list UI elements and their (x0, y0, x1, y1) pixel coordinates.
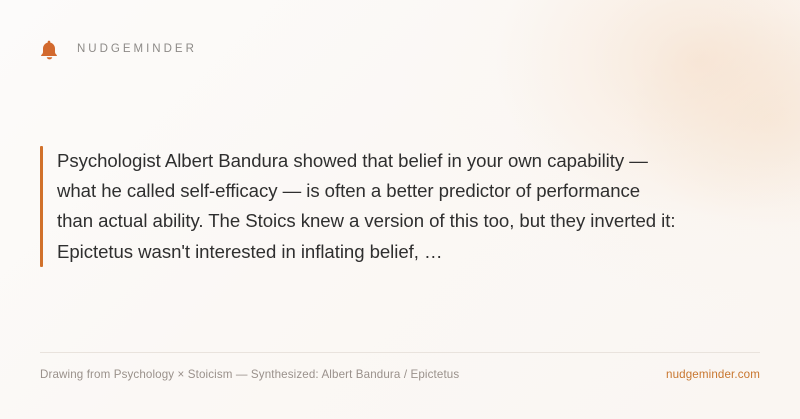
nudge-card: NUDGEMINDER Psychologist Albert Bandura … (0, 0, 800, 419)
quote-line: what he called self-efficacy — is often … (57, 176, 762, 206)
quote-block: Psychologist Albert Bandura showed that … (40, 146, 762, 267)
brand-wordmark: NUDGEMINDER (77, 44, 197, 56)
quote-accent-bar (40, 146, 43, 267)
brand-header: NUDGEMINDER (40, 36, 197, 64)
footer-divider (40, 352, 760, 353)
footer-site-link[interactable]: nudgeminder.com (666, 368, 760, 381)
footer-attribution: Drawing from Psychology × Stoicism — Syn… (40, 368, 459, 381)
quote-line: than actual ability. The Stoics knew a v… (57, 206, 762, 236)
footer-bar: Drawing from Psychology × Stoicism — Syn… (40, 368, 760, 381)
bell-icon (40, 40, 58, 60)
quote-line: Epictetus wasn't interested in inflating… (57, 237, 762, 267)
quote-text: Psychologist Albert Bandura showed that … (57, 146, 762, 267)
quote-line: Psychologist Albert Bandura showed that … (57, 146, 762, 176)
